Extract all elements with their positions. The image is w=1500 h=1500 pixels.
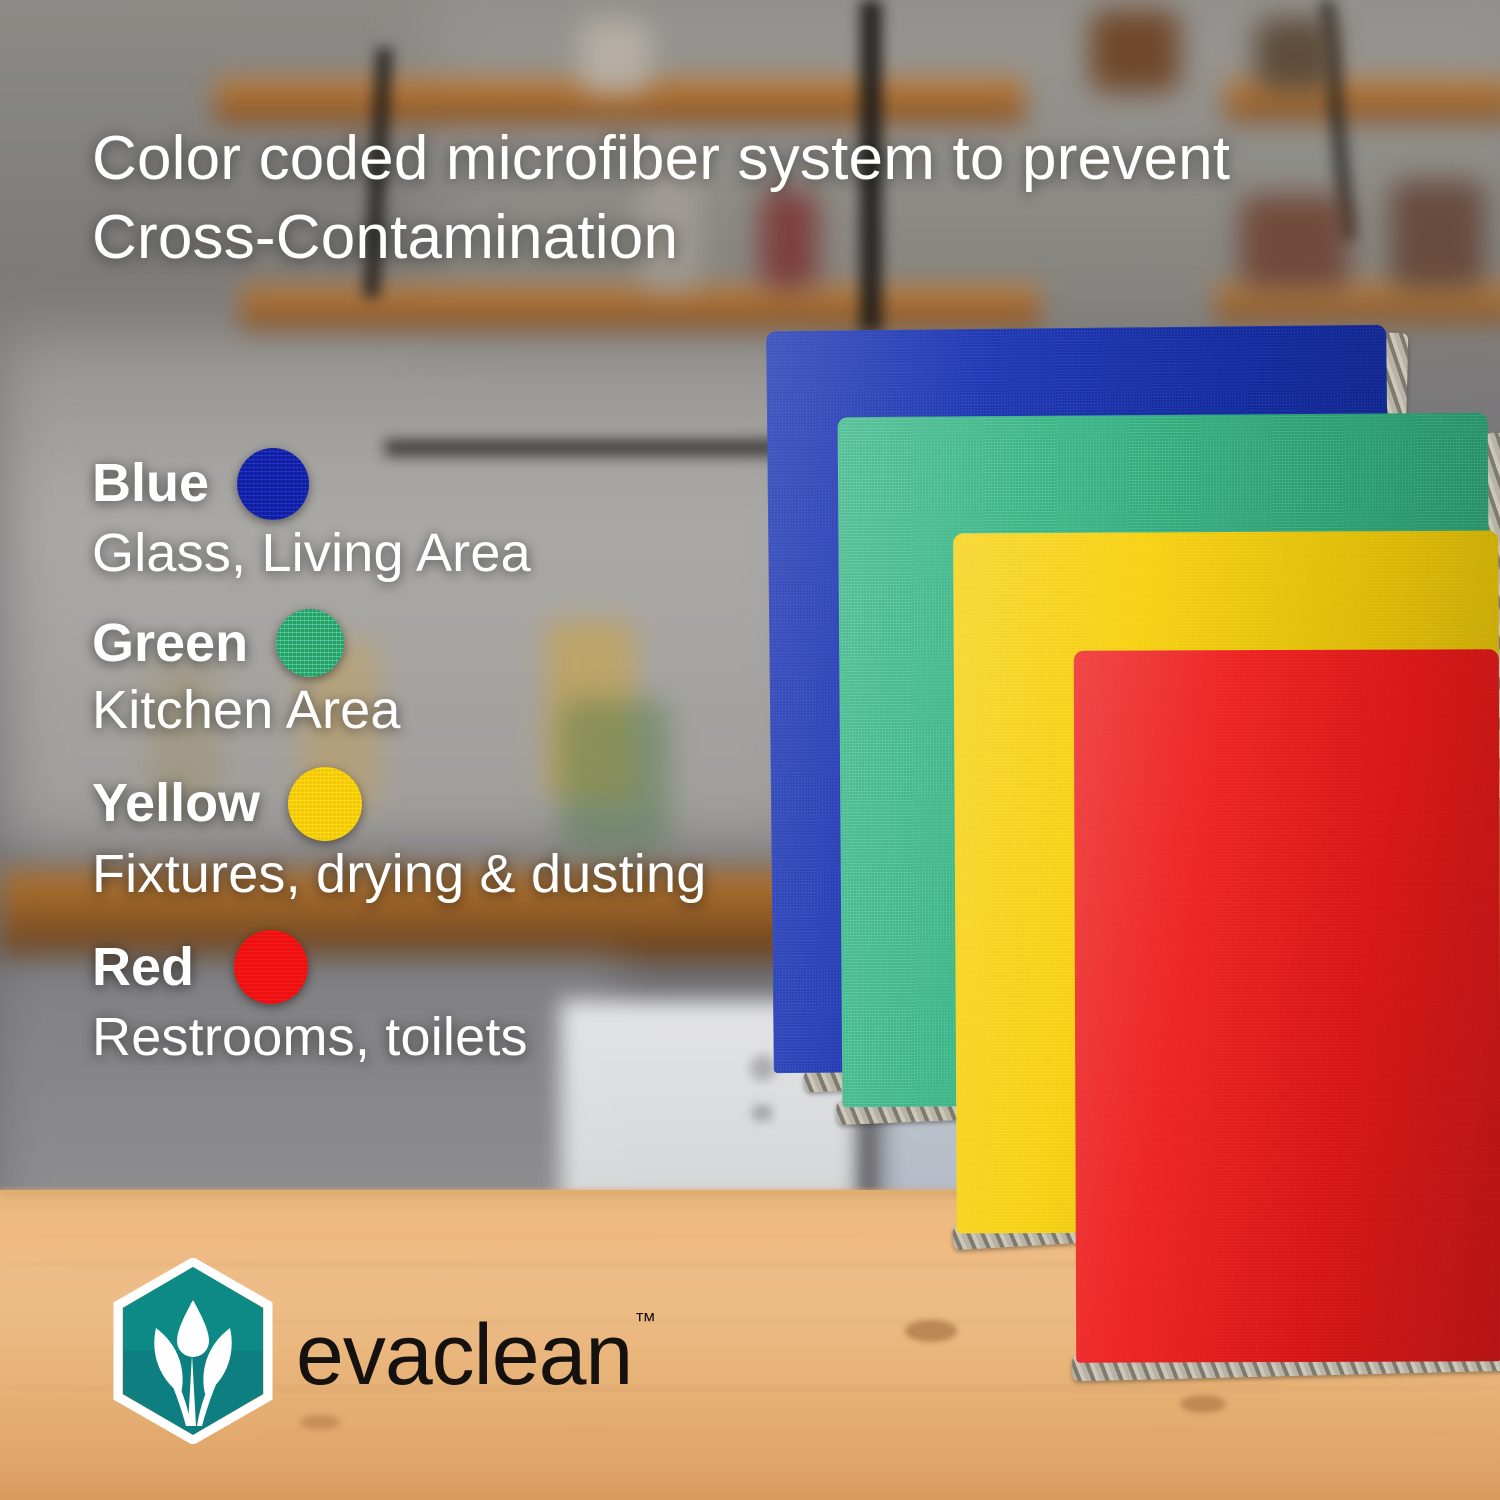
legend-color-name: Green — [92, 616, 248, 671]
page-title: Color coded microfiber system to prevent… — [92, 120, 1432, 277]
legend-item-header: Green — [92, 609, 852, 677]
green-microfiber-dot-icon — [276, 609, 344, 677]
legend-color-usage: Glass, Living Area — [92, 524, 852, 583]
evaclean-hexagon-logo-icon — [108, 1258, 278, 1444]
legend-item-yellow: Yellow Fixtures, drying & dusting — [92, 767, 852, 904]
brand-logo: evaclean™ — [108, 1258, 654, 1444]
microfiber-texture — [237, 448, 309, 520]
headline-line-1: Color coded microfiber system to prevent — [92, 120, 1432, 199]
content-overlay: Color coded microfiber system to prevent… — [0, 0, 1500, 1500]
legend-item-green: Green Kitchen Area — [92, 609, 852, 740]
legend-item-header: Yellow — [92, 767, 852, 841]
microfiber-texture — [288, 767, 362, 841]
legend-color-usage: Fixtures, drying & dusting — [92, 845, 852, 904]
legend-item-header: Blue — [92, 448, 852, 520]
legend-item-blue: Blue Glass, Living Area — [92, 448, 852, 583]
microfiber-texture — [276, 609, 344, 677]
legend-color-name: Blue — [92, 456, 209, 511]
legend-color-usage: Kitchen Area — [92, 681, 852, 740]
legend-item-header: Red — [92, 930, 852, 1004]
yellow-microfiber-dot-icon — [288, 767, 362, 841]
legend-color-name: Red — [92, 940, 194, 995]
red-microfiber-dot-icon — [234, 930, 308, 1004]
trademark-symbol: ™ — [634, 1308, 656, 1333]
legend-color-usage: Restrooms, toilets — [92, 1008, 852, 1067]
blue-microfiber-dot-icon — [237, 448, 309, 520]
color-code-legend: Blue Glass, Living Area Green Kitchen Ar… — [92, 448, 852, 1088]
legend-color-name: Yellow — [92, 776, 260, 831]
legend-item-red: Red Restrooms, toilets — [92, 930, 852, 1067]
headline-line-2: Cross-Contamination — [92, 199, 1432, 278]
brand-wordmark: evaclean™ — [296, 1312, 654, 1398]
microfiber-texture — [234, 930, 308, 1004]
brand-name: evaclean — [296, 1307, 632, 1403]
